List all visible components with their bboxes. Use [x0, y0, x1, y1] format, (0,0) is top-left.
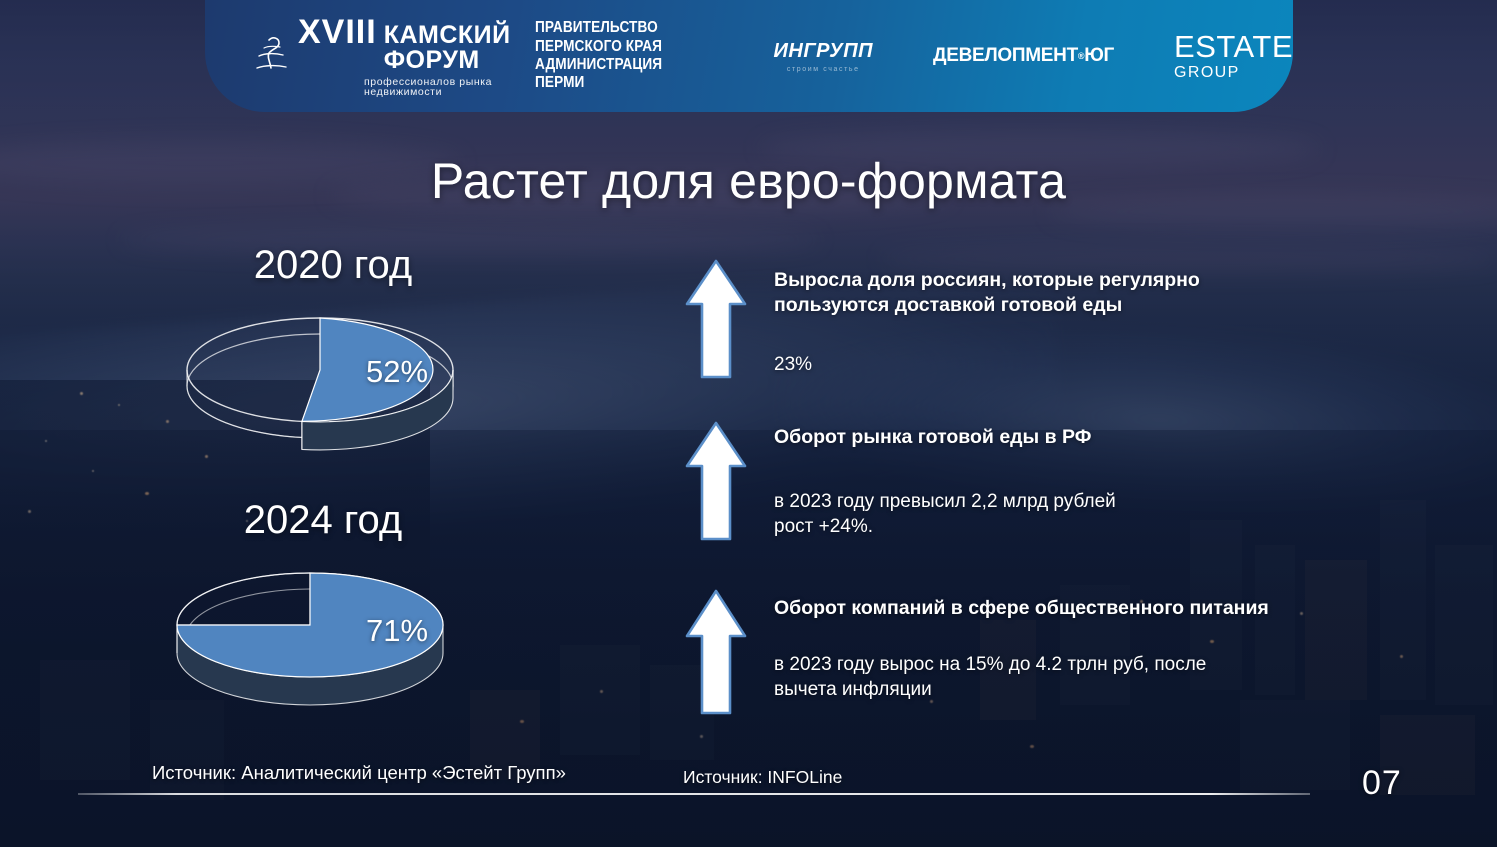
chart-label-2024: 2024 год	[158, 498, 488, 543]
logo-development-yug: ДЕВЕЛОПМЕНТ®ЮГ	[933, 45, 1114, 67]
gov-line-2: АДМИНИСТРАЦИЯ ПЕРМИ	[535, 56, 691, 93]
logo-ingrupp: ИНГРУПП строим счастье	[774, 40, 874, 73]
forum-title: КАМСКИЙ ФОРУМ	[384, 23, 511, 73]
page-number: 07	[1362, 764, 1402, 803]
up-arrow-icon	[684, 258, 748, 385]
pie-chart-2020: 52%	[168, 308, 498, 488]
fact-row-catering-turnover: Оборот компаний в сфере общественного пи…	[684, 588, 1344, 721]
fact-heading-2: Оборот рынка готовой еды в РФ	[774, 425, 1319, 450]
sponsor-header-bar: XVIII КАМСКИЙ ФОРУМ профессионалов рынка…	[205, 0, 1293, 112]
fact-body-3: в 2023 году вырос на 15% до 4.2 трлн руб…	[774, 653, 1339, 702]
fact-row-ready-food-turnover: Оборот рынка готовой еды в РФ в 2023 год…	[684, 420, 1324, 547]
ingrupp-subtitle: строим счастье	[787, 66, 860, 73]
footer-divider-rule	[78, 793, 1310, 795]
fact-heading-1: Выросла доля россиян, которые регулярно …	[774, 268, 1314, 319]
up-arrow-icon	[684, 588, 748, 721]
dev-title-2: ЮГ	[1084, 45, 1114, 67]
estate-line-2: GROUP	[1174, 65, 1240, 81]
slide-title: Растет доля евро-формата	[0, 152, 1497, 210]
logo-kamsky-forum: XVIII КАМСКИЙ ФОРУМ профессионалов рынка…	[255, 15, 511, 98]
presentation-slide: XVIII КАМСКИЙ ФОРУМ профессионалов рынка…	[0, 0, 1497, 847]
dev-title: ДЕВЕЛОПМЕНТ	[933, 45, 1078, 67]
forum-emblem-icon	[255, 34, 289, 78]
fact-body-2: в 2023 году превысил 2,2 млрд рублей рос…	[774, 490, 1319, 539]
source-right: Источник: INFOLine	[683, 767, 842, 788]
forum-roman-numeral: XVIII	[298, 15, 377, 49]
source-left: Источник: Аналитический центр «Эстейт Гр…	[152, 762, 566, 784]
gov-line-1: ПРАВИТЕЛЬСТВО ПЕРМСКОГО КРАЯ	[535, 19, 691, 56]
fact-heading-3: Оборот компаний в сфере общественного пи…	[774, 596, 1339, 621]
ingrupp-title: ИНГРУПП	[774, 40, 874, 63]
logo-estate-group: ESTATE GROUP	[1174, 31, 1293, 81]
logo-perm-government: ПРАВИТЕЛЬСТВО ПЕРМСКОГО КРАЯ АДМИНИСТРАЦ…	[535, 19, 712, 92]
chart-block-2020: 2020 год 52%	[168, 243, 498, 488]
fact-body-1: 23%	[774, 353, 1314, 378]
chart-label-2020: 2020 год	[168, 243, 498, 288]
pie-chart-2024: 71%	[158, 563, 488, 743]
estate-line-1: ESTATE	[1174, 31, 1293, 62]
up-arrow-icon	[684, 420, 748, 547]
forum-subtitle: профессионалов рынка недвижимости	[364, 77, 511, 98]
fact-row-delivery-share: Выросла доля россиян, которые регулярно …	[684, 258, 1324, 385]
chart-block-2024: 2024 год 71%	[158, 498, 488, 743]
